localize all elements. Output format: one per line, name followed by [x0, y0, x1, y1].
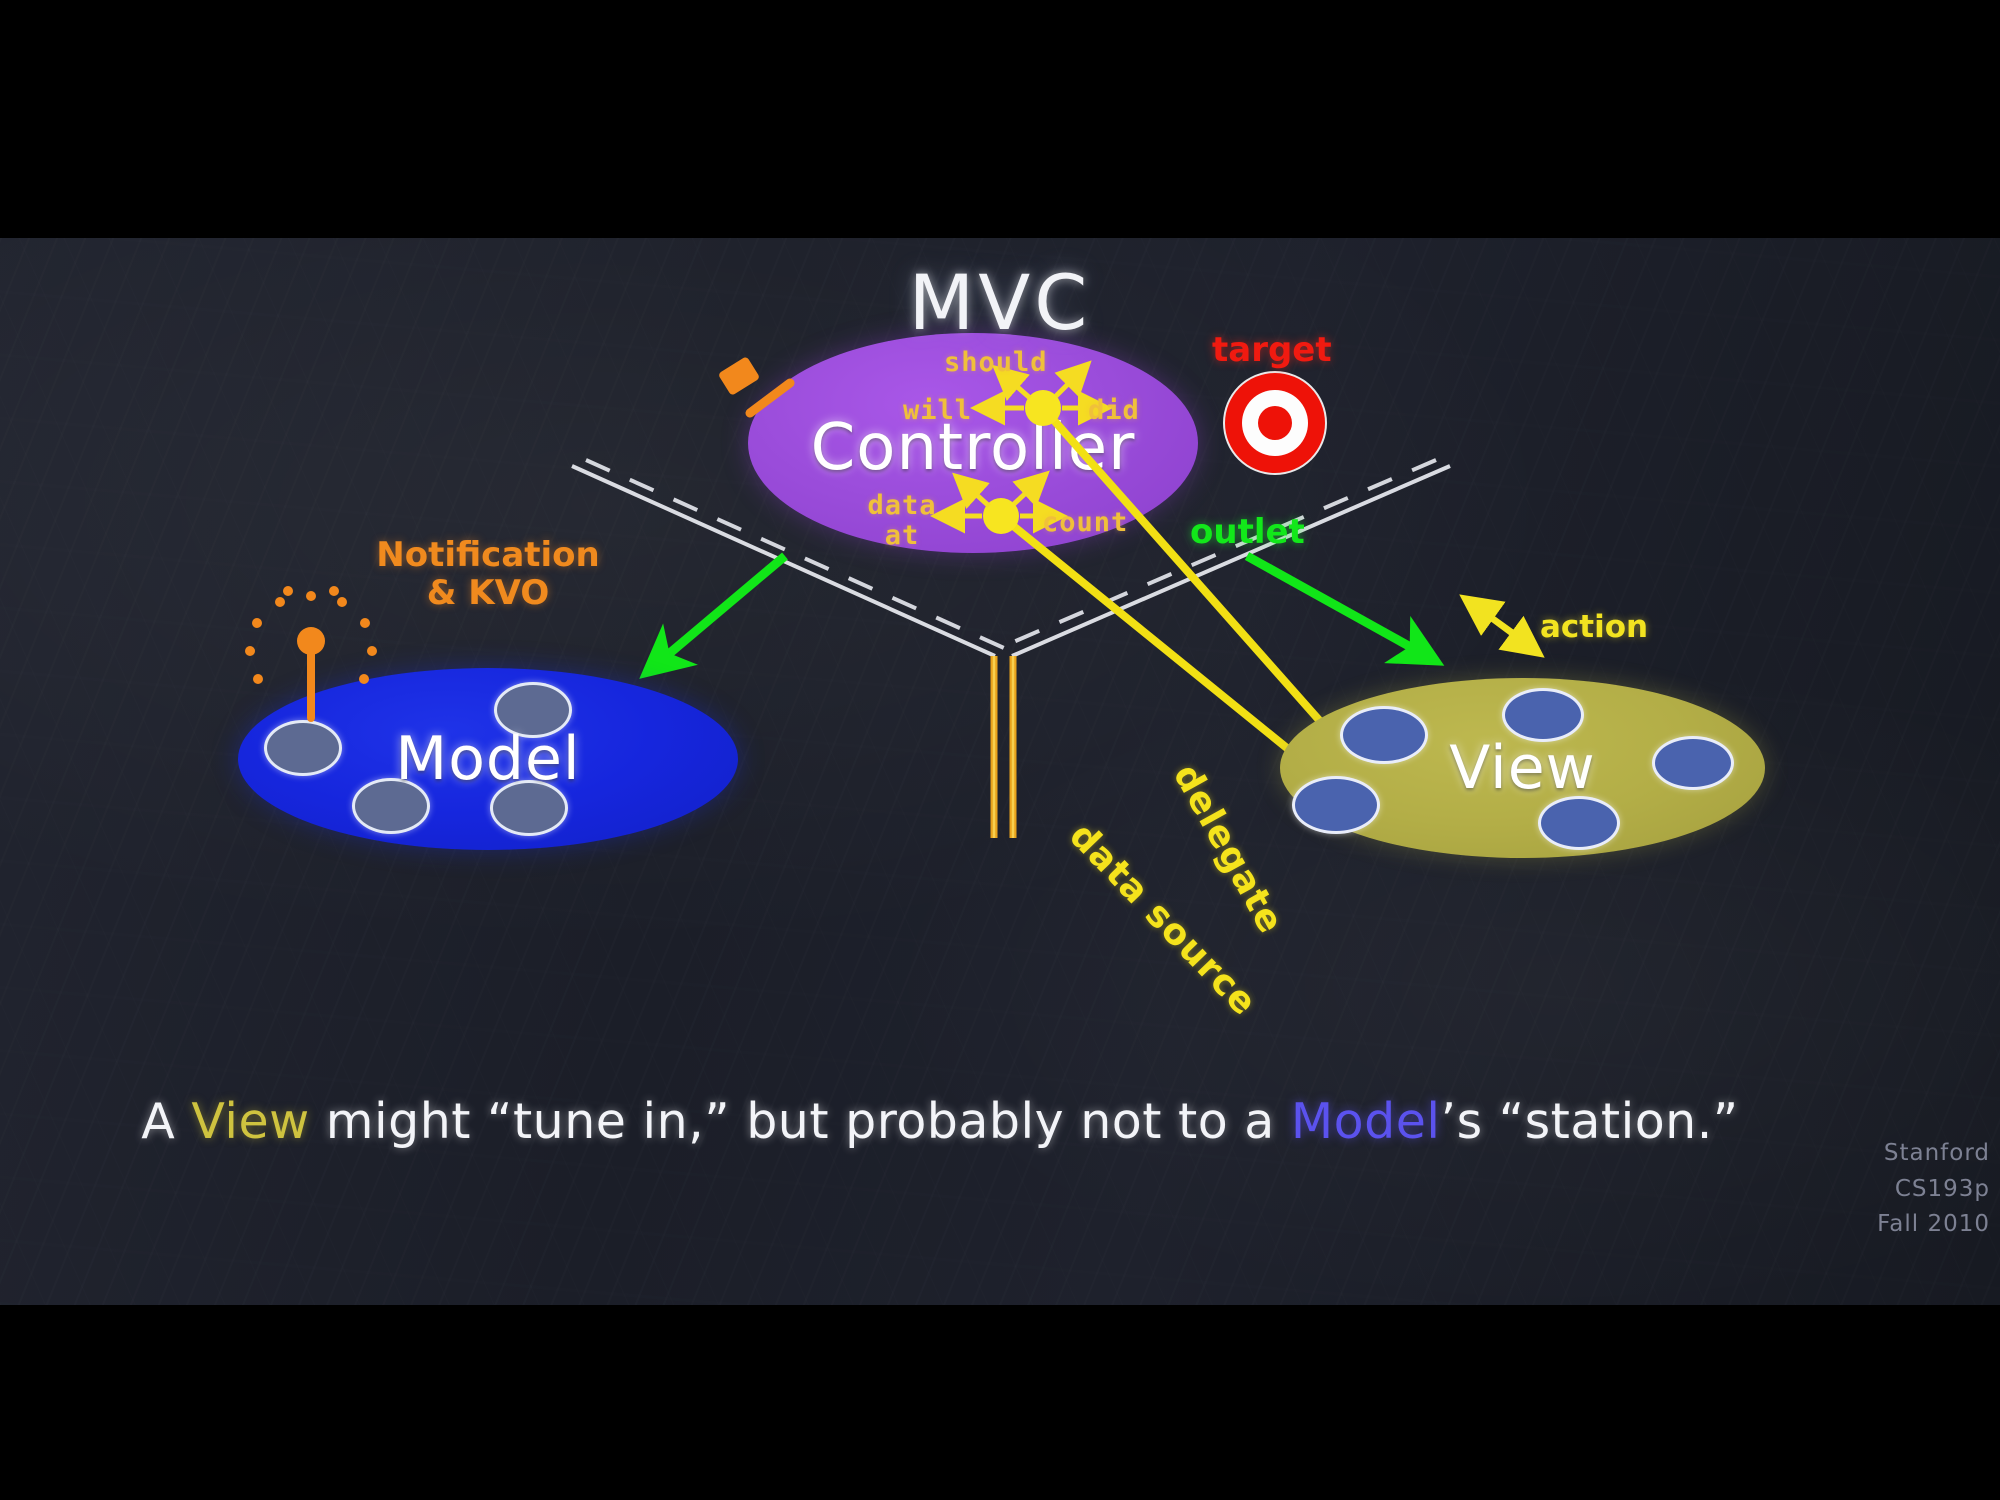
- lecture-slide: MVC Controller: [0, 238, 2000, 1305]
- slide-caption: A View might “tune in,” but probably not…: [0, 1093, 1880, 1150]
- video-frame: MVC Controller: [0, 0, 2000, 1500]
- caption-view-word: View: [191, 1093, 309, 1150]
- credits-code: CS193p: [1830, 1172, 1990, 1208]
- credits-school: Stanford: [1830, 1136, 1990, 1172]
- course-credits: Stanford CS193p Fall 2010: [1830, 1136, 1990, 1243]
- action-label: action: [1540, 610, 1648, 645]
- credits-term: Fall 2010: [1830, 1207, 1990, 1243]
- caption-part-3: ’s “station.”: [1441, 1093, 1739, 1150]
- caption-model-word: Model: [1291, 1093, 1441, 1150]
- caption-part-1: A: [141, 1093, 191, 1150]
- caption-part-2: might “tune in,” but probably not to a: [310, 1093, 1291, 1150]
